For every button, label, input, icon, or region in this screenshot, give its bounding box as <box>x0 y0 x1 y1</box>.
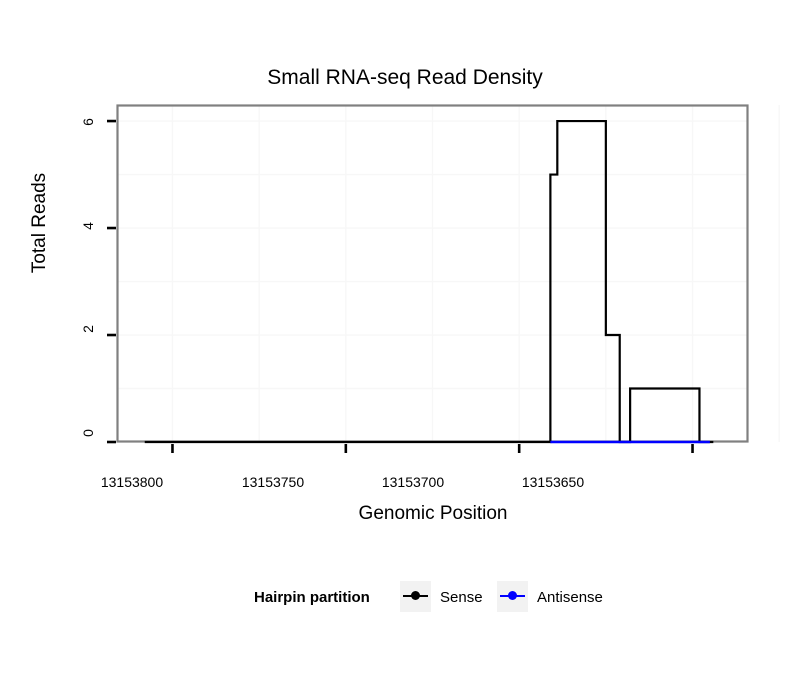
legend-label-antisense[interactable]: Antisense <box>537 589 603 606</box>
legend-dot-sense <box>411 591 420 600</box>
legend-dot-antisense <box>508 591 517 600</box>
legend-label-sense[interactable]: Sense <box>440 589 483 606</box>
chart-figure: Small RNA-seq Read Density Total Reads G… <box>0 0 810 690</box>
legend-title: Hairpin partition <box>254 589 370 606</box>
legend-key-sense[interactable] <box>400 581 431 612</box>
legend-key-antisense[interactable] <box>497 581 528 612</box>
